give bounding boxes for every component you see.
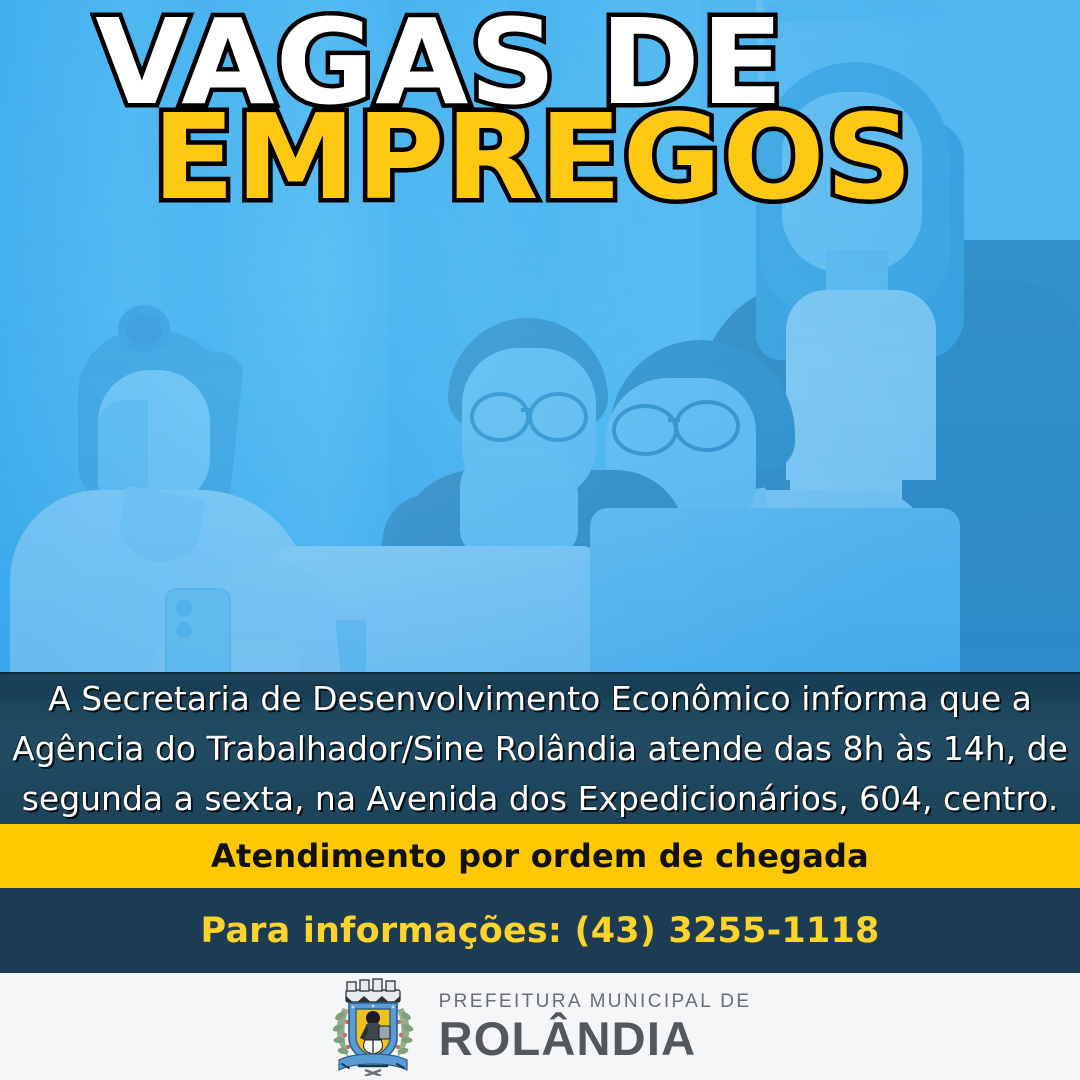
footer-bar: PREFEITURA MUNICIPAL DE ROLÂNDIA (0, 973, 1080, 1080)
prefeitura-logo: PREFEITURA MUNICIPAL DE ROLÂNDIA (329, 978, 752, 1076)
logo-supertitle: PREFEITURA MUNICIPAL DE (439, 992, 752, 1011)
queue-notice-text: Atendimento por ordem de chegada (211, 837, 869, 875)
logo-wordmark: PREFEITURA MUNICIPAL DE ROLÂNDIA (439, 992, 752, 1062)
logo-title: ROLÂNDIA (439, 1015, 752, 1062)
contact-phone-text: Para informações: (43) 3255-1118 (200, 911, 879, 951)
rolandia-coat-of-arms-icon (329, 978, 417, 1076)
watermark (42, 930, 172, 956)
queue-notice-band: Atendimento por ordem de chegada (0, 824, 1080, 888)
background-photo (0, 0, 1080, 700)
info-line-1: A Secretaria de Desenvolvimento Econômic… (48, 674, 1032, 724)
duotone-overlay-radial (0, 0, 1080, 700)
info-line-2: Agência do Trabalhador/Sine Rolândia ate… (12, 724, 1068, 774)
poster-canvas: VAGAS DE EMPREGOS A Secretaria de Desenv… (0, 0, 1080, 1080)
info-panel: A Secretaria de Desenvolvimento Econômic… (0, 672, 1080, 824)
info-line-3: segunda a sexta, na Avenida dos Expedici… (22, 774, 1059, 824)
